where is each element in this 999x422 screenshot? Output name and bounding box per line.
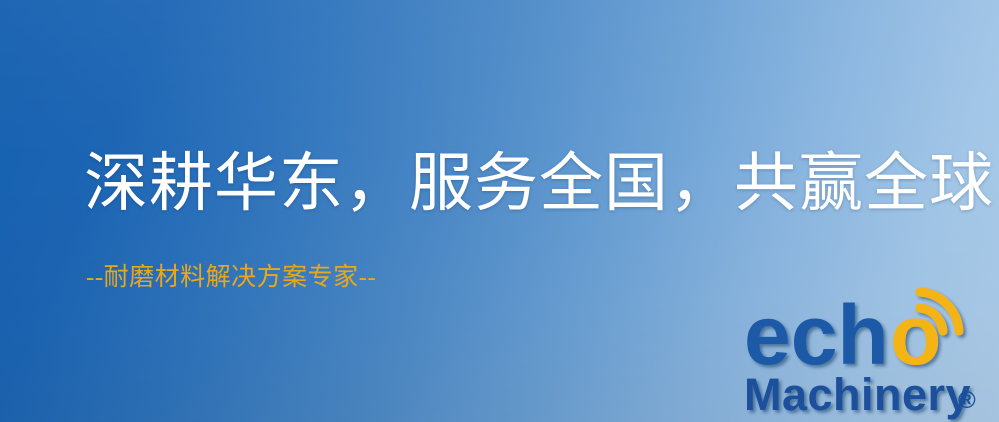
registered-trademark-icon: ® <box>958 387 976 414</box>
logo-o-letter: o <box>890 288 941 382</box>
logo-echo-text: ech <box>744 288 889 382</box>
logo-machinery-text: Machinery <box>744 369 971 420</box>
promo-banner: 深耕华东，服务全国，共赢全球 --耐磨材料解决方案专家-- ech o Mach… <box>0 0 999 422</box>
banner-headline: 深耕华东，服务全国，共赢全球 <box>84 152 994 216</box>
banner-subtitle: --耐磨材料解决方案专家-- <box>86 265 376 290</box>
echo-machinery-logo[interactable]: ech o Machinery ® <box>742 292 992 420</box>
